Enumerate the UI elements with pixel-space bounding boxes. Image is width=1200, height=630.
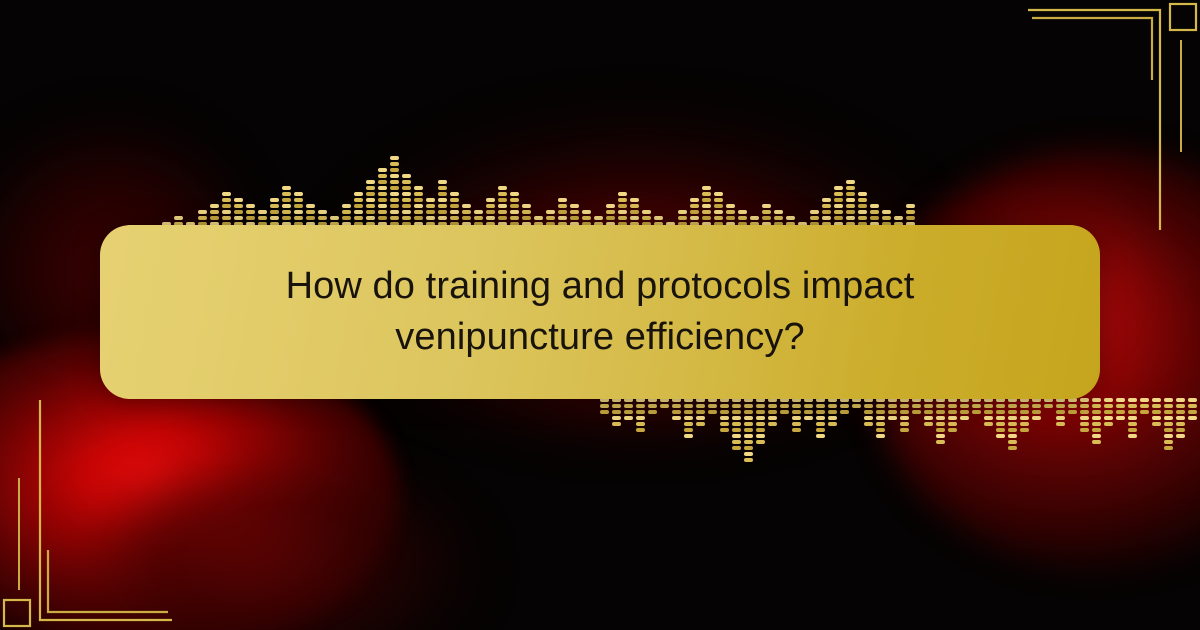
- waveform-segment: [924, 416, 933, 420]
- waveform-segment: [1044, 404, 1053, 408]
- waveform-segment: [936, 434, 945, 438]
- waveform-segment: [390, 204, 399, 208]
- waveform-segment: [390, 180, 399, 184]
- waveform-bar: [1068, 398, 1077, 414]
- waveform-bar: [624, 398, 633, 420]
- waveform-segment: [720, 416, 729, 420]
- waveform-bar: [924, 398, 933, 426]
- waveform-bar: [1104, 398, 1113, 426]
- waveform-segment: [936, 440, 945, 444]
- waveform-segment: [756, 404, 765, 408]
- waveform-segment: [378, 216, 387, 220]
- waveform-segment: [426, 216, 435, 220]
- waveform-segment: [612, 404, 621, 408]
- waveform-segment: [732, 410, 741, 414]
- waveform-segment: [780, 404, 789, 408]
- waveform-segment: [450, 198, 459, 202]
- waveform-segment: [570, 210, 579, 214]
- waveform-bar: [648, 398, 657, 414]
- waveform-segment: [708, 404, 717, 408]
- waveform-bar: [744, 398, 753, 462]
- waveform-segment: [1152, 404, 1161, 408]
- waveform-segment: [744, 404, 753, 408]
- waveform-segment: [1104, 404, 1113, 408]
- waveform-segment: [972, 410, 981, 414]
- waveform-bar: [804, 398, 813, 420]
- waveform-segment: [816, 404, 825, 408]
- waveform-segment: [864, 404, 873, 408]
- waveform-segment: [1020, 404, 1029, 408]
- waveform-segment: [852, 404, 861, 408]
- waveform-segment: [390, 162, 399, 166]
- waveform-bar: [768, 398, 777, 426]
- waveform-segment: [222, 210, 231, 214]
- waveform-segment: [1152, 410, 1161, 414]
- waveform-segment: [1080, 416, 1089, 420]
- waveform-segment: [282, 216, 291, 220]
- waveform-segment: [996, 416, 1005, 420]
- waveform-segment: [450, 192, 459, 196]
- waveform-bar: [1152, 398, 1161, 426]
- waveform-bar: [1116, 398, 1125, 420]
- waveform-segment: [984, 422, 993, 426]
- waveform-segment: [354, 210, 363, 214]
- waveform-segment: [222, 192, 231, 196]
- waveform-bar: [612, 398, 621, 426]
- waveform-segment: [1140, 398, 1149, 402]
- waveform-segment: [1008, 416, 1017, 420]
- waveform-segment: [876, 416, 885, 420]
- waveform-segment: [1020, 428, 1029, 432]
- waveform-segment: [768, 416, 777, 420]
- waveform-segment: [708, 410, 717, 414]
- waveform-segment: [858, 216, 867, 220]
- waveform-segment: [762, 210, 771, 214]
- waveform-segment: [510, 210, 519, 214]
- waveform-segment: [936, 410, 945, 414]
- waveform-segment: [612, 422, 621, 426]
- waveform-segment: [414, 210, 423, 214]
- waveform-segment: [282, 198, 291, 202]
- waveform-segment: [1164, 410, 1173, 414]
- waveform-segment: [1176, 410, 1185, 414]
- waveform-segment: [702, 198, 711, 202]
- waveform-segment: [726, 216, 735, 220]
- waveform-segment: [618, 192, 627, 196]
- waveform-segment: [840, 404, 849, 408]
- waveform-segment: [702, 204, 711, 208]
- waveform-bar: [1056, 398, 1065, 426]
- waveform-segment: [1188, 398, 1197, 402]
- waveform-segment: [378, 180, 387, 184]
- waveform-segment: [912, 410, 921, 414]
- waveform-segment: [510, 192, 519, 196]
- waveform-segment: [906, 216, 915, 220]
- waveform-segment: [1092, 440, 1101, 444]
- waveform-segment: [438, 186, 447, 190]
- waveform-segment: [744, 458, 753, 462]
- waveform-segment: [882, 210, 891, 214]
- waveform-segment: [720, 428, 729, 432]
- waveform-segment: [510, 204, 519, 208]
- waveform-segment: [654, 216, 663, 220]
- waveform-bar: [828, 398, 837, 426]
- waveform-segment: [1116, 416, 1125, 420]
- waveform-segment: [732, 428, 741, 432]
- waveform-segment: [1116, 404, 1125, 408]
- waveform-segment: [222, 216, 231, 220]
- waveform-segment: [822, 204, 831, 208]
- waveform-segment: [570, 204, 579, 208]
- waveform-segment: [648, 404, 657, 408]
- waveform-bar: [672, 398, 681, 420]
- waveform-segment: [582, 216, 591, 220]
- waveform-segment: [1164, 434, 1173, 438]
- waveform-segment: [378, 174, 387, 178]
- waveform-segment: [330, 216, 339, 220]
- waveform-segment: [450, 204, 459, 208]
- waveform-segment: [438, 204, 447, 208]
- waveform-segment: [1176, 416, 1185, 420]
- waveform-segment: [780, 410, 789, 414]
- waveform-segment: [624, 404, 633, 408]
- waveform-segment: [744, 434, 753, 438]
- waveform-segment: [270, 216, 279, 220]
- waveform-segment: [696, 404, 705, 408]
- waveform-segment: [1128, 398, 1137, 402]
- waveform-segment: [402, 174, 411, 178]
- waveform-segment: [1032, 404, 1041, 408]
- waveform-segment: [1128, 428, 1137, 432]
- waveform-segment: [402, 210, 411, 214]
- waveform-segment: [234, 198, 243, 202]
- waveform-bar: [876, 398, 885, 438]
- waveform-segment: [402, 186, 411, 190]
- waveform-segment: [996, 428, 1005, 432]
- waveform-segment: [600, 404, 609, 408]
- waveform-segment: [366, 186, 375, 190]
- waveform-segment: [786, 216, 795, 220]
- waveform-segment: [846, 198, 855, 202]
- waveform-bar: [972, 398, 981, 414]
- waveform-segment: [744, 410, 753, 414]
- waveform-segment: [684, 434, 693, 438]
- waveform-segment: [888, 404, 897, 408]
- waveform-segment: [864, 416, 873, 420]
- waveform-segment: [462, 204, 471, 208]
- waveform-segment: [1176, 428, 1185, 432]
- waveform-segment: [744, 446, 753, 450]
- waveform-segment: [1116, 398, 1125, 402]
- waveform-segment: [222, 204, 231, 208]
- waveform-bar: [864, 398, 873, 426]
- waveform-segment: [756, 416, 765, 420]
- waveform-segment: [702, 216, 711, 220]
- waveform-segment: [618, 210, 627, 214]
- waveform-segment: [900, 416, 909, 420]
- red-glow-bottom-left: [60, 470, 480, 630]
- waveform-segment: [1152, 422, 1161, 426]
- waveform-segment: [558, 198, 567, 202]
- waveform-segment: [210, 216, 219, 220]
- waveform-segment: [858, 198, 867, 202]
- waveform-segment: [618, 204, 627, 208]
- waveform-segment: [726, 204, 735, 208]
- waveform-bar: [402, 174, 411, 232]
- waveform-segment: [996, 404, 1005, 408]
- waveform-segment: [804, 416, 813, 420]
- waveform-segment: [474, 216, 483, 220]
- waveform-segment: [1008, 446, 1017, 450]
- waveform-segment: [732, 422, 741, 426]
- waveform-bar: [960, 398, 969, 420]
- waveform-segment: [690, 210, 699, 214]
- waveform-segment: [426, 204, 435, 208]
- waveform-segment: [390, 198, 399, 202]
- waveform-segment: [558, 204, 567, 208]
- waveform-segment: [510, 216, 519, 220]
- waveform-segment: [474, 210, 483, 214]
- waveform-segment: [282, 192, 291, 196]
- waveform-segment: [1020, 416, 1029, 420]
- waveform-segment: [948, 416, 957, 420]
- waveform-segment: [696, 416, 705, 420]
- waveform-segment: [822, 216, 831, 220]
- card-title: How do training and protocols impact ven…: [220, 261, 980, 362]
- waveform-segment: [828, 410, 837, 414]
- waveform-segment: [876, 410, 885, 414]
- waveform-segment: [1068, 404, 1077, 408]
- waveform-bar: [936, 398, 945, 444]
- waveform-segment: [270, 198, 279, 202]
- waveform-segment: [1164, 398, 1173, 402]
- waveform-segment: [498, 216, 507, 220]
- waveform-segment: [1164, 422, 1173, 426]
- waveform-segment: [996, 434, 1005, 438]
- waveform-segment: [642, 210, 651, 214]
- waveform-segment: [270, 210, 279, 214]
- waveform-segment: [390, 168, 399, 172]
- waveform-segment: [828, 404, 837, 408]
- waveform-segment: [900, 410, 909, 414]
- waveform-segment: [996, 422, 1005, 426]
- waveform-segment: [702, 210, 711, 214]
- waveform-segment: [672, 404, 681, 408]
- waveform-bar: [636, 398, 645, 432]
- waveform-segment: [510, 198, 519, 202]
- waveform-segment: [630, 204, 639, 208]
- waveform-segment: [756, 440, 765, 444]
- waveform-segment: [258, 210, 267, 214]
- waveform-segment: [462, 216, 471, 220]
- waveform-segment: [972, 404, 981, 408]
- waveform-segment: [684, 404, 693, 408]
- waveform-segment: [1176, 404, 1185, 408]
- waveform-segment: [816, 428, 825, 432]
- waveform-segment: [732, 446, 741, 450]
- waveform-segment: [834, 192, 843, 196]
- waveform-segment: [498, 210, 507, 214]
- waveform-segment: [702, 192, 711, 196]
- waveform-segment: [690, 216, 699, 220]
- waveform-segment: [1032, 410, 1041, 414]
- waveform-segment: [402, 180, 411, 184]
- waveform-segment: [1092, 416, 1101, 420]
- waveform-segment: [714, 198, 723, 202]
- waveform-segment: [714, 210, 723, 214]
- waveform-segment: [858, 204, 867, 208]
- question-card: How do training and protocols impact ven…: [100, 225, 1100, 399]
- corner-decoration-top-right: [1010, 0, 1200, 240]
- waveform-segment: [438, 216, 447, 220]
- waveform-segment: [678, 210, 687, 214]
- waveform-segment: [438, 198, 447, 202]
- waveform-bar: [1044, 398, 1053, 408]
- waveform-segment: [282, 204, 291, 208]
- waveform-segment: [720, 422, 729, 426]
- waveform-bar: [888, 398, 897, 420]
- waveform-segment: [846, 192, 855, 196]
- waveform-segment: [816, 416, 825, 420]
- waveform-segment: [390, 186, 399, 190]
- waveform-segment: [744, 452, 753, 456]
- waveform-segment: [792, 422, 801, 426]
- waveform-segment: [936, 428, 945, 432]
- waveform-segment: [816, 410, 825, 414]
- waveform-segment: [366, 198, 375, 202]
- waveform-segment: [846, 204, 855, 208]
- waveform-segment: [1128, 410, 1137, 414]
- waveform-segment: [390, 156, 399, 160]
- waveform-segment: [294, 192, 303, 196]
- waveform-segment: [1008, 440, 1017, 444]
- waveform-segment: [414, 192, 423, 196]
- waveform-segment: [1128, 404, 1137, 408]
- waveform-segment: [1104, 422, 1113, 426]
- waveform-segment: [864, 410, 873, 414]
- waveform-segment: [366, 216, 375, 220]
- waveform-bar: [1020, 398, 1029, 432]
- waveform-segment: [636, 428, 645, 432]
- waveform-segment: [756, 434, 765, 438]
- waveform-segment: [438, 192, 447, 196]
- waveform-segment: [1092, 434, 1101, 438]
- waveform-segment: [888, 410, 897, 414]
- waveform-segment: [804, 410, 813, 414]
- waveform-segment: [234, 210, 243, 214]
- waveform-segment: [996, 410, 1005, 414]
- waveform-segment: [342, 210, 351, 214]
- waveform-bar: [816, 398, 825, 438]
- waveform-segment: [306, 204, 315, 208]
- waveform-segment: [876, 428, 885, 432]
- waveform-segment: [636, 404, 645, 408]
- waveform-segment: [522, 204, 531, 208]
- waveform-bar: [684, 398, 693, 438]
- waveform-segment: [498, 198, 507, 202]
- waveform-segment: [672, 410, 681, 414]
- waveform-segment: [612, 416, 621, 420]
- waveform-segment: [1092, 428, 1101, 432]
- waveform-segment: [696, 422, 705, 426]
- waveform-segment: [750, 216, 759, 220]
- waveform-segment: [342, 216, 351, 220]
- waveform-segment: [258, 216, 267, 220]
- waveform-segment: [690, 204, 699, 208]
- waveform-segment: [642, 216, 651, 220]
- waveform-segment: [894, 216, 903, 220]
- waveform-segment: [762, 216, 771, 220]
- waveform-segment: [570, 216, 579, 220]
- waveform-bar: [1188, 398, 1197, 420]
- waveform-segment: [1080, 428, 1089, 432]
- waveform-bar: [792, 398, 801, 432]
- waveform-segment: [720, 404, 729, 408]
- waveform-segment: [1188, 416, 1197, 420]
- waveform-segment: [828, 416, 837, 420]
- waveform-segment: [462, 210, 471, 214]
- waveform-segment: [684, 422, 693, 426]
- waveform-bar: [840, 398, 849, 414]
- waveform-segment: [984, 416, 993, 420]
- waveform-segment: [1164, 404, 1173, 408]
- waveform-bar: [1176, 398, 1185, 438]
- waveform-segment: [378, 192, 387, 196]
- waveform-segment: [1128, 422, 1137, 426]
- waveform-segment: [1092, 398, 1101, 402]
- waveform-segment: [378, 198, 387, 202]
- waveform-segment: [546, 210, 555, 214]
- waveform-segment: [402, 204, 411, 208]
- waveform-segment: [810, 216, 819, 220]
- waveform-segment: [906, 204, 915, 208]
- waveform-segment: [486, 216, 495, 220]
- waveform-segment: [822, 198, 831, 202]
- waveform-segment: [684, 416, 693, 420]
- waveform-segment: [834, 198, 843, 202]
- waveform-segment: [600, 410, 609, 414]
- waveform-bar: [780, 398, 789, 414]
- waveform-segment: [900, 428, 909, 432]
- waveform-segment: [1068, 410, 1077, 414]
- waveform-segment: [648, 410, 657, 414]
- waveform-segment: [378, 168, 387, 172]
- waveform-segment: [924, 410, 933, 414]
- waveform-segment: [960, 404, 969, 408]
- corner-decoration-bottom-left: [0, 390, 190, 630]
- waveform-segment: [246, 210, 255, 214]
- waveform-segment: [846, 180, 855, 184]
- waveform-bar: [390, 156, 399, 232]
- waveform-segment: [900, 404, 909, 408]
- waveform-segment: [378, 204, 387, 208]
- waveform-segment: [840, 410, 849, 414]
- waveform-segment: [792, 410, 801, 414]
- waveform-segment: [948, 422, 957, 426]
- waveform-segment: [594, 216, 603, 220]
- waveform-segment: [858, 192, 867, 196]
- waveform-segment: [792, 428, 801, 432]
- waveform-bar: [1080, 398, 1089, 432]
- waveform-segment: [636, 422, 645, 426]
- waveform-segment: [726, 210, 735, 214]
- waveform-segment: [1152, 398, 1161, 402]
- waveform-segment: [366, 210, 375, 214]
- waveform-segment: [846, 210, 855, 214]
- waveform-segment: [822, 210, 831, 214]
- waveform-segment: [714, 216, 723, 220]
- poster-canvas: How do training and protocols impact ven…: [0, 0, 1200, 630]
